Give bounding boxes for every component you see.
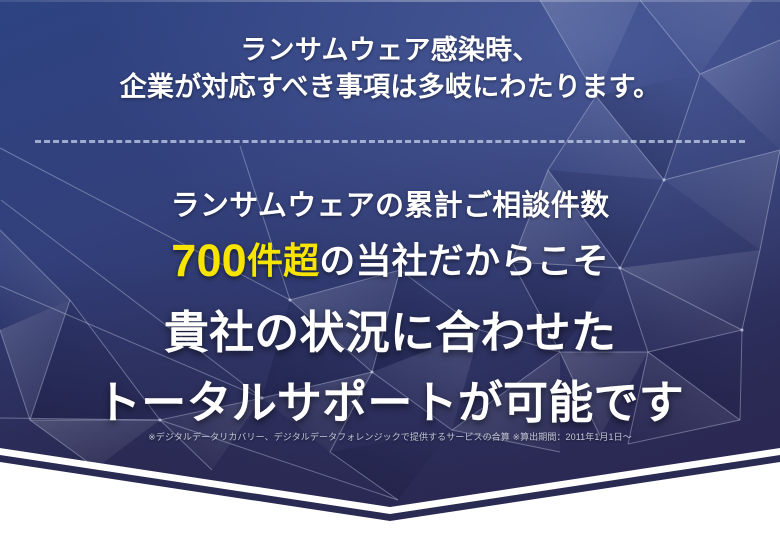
stat-tail-text: の当社だからこそ <box>319 240 608 281</box>
headline-line-1: ランサムウェア感染時、 <box>0 33 780 67</box>
footnote-text: ※デジタルデータリカバリー、デジタルデータフォレンジックで提供するサービスの合算… <box>0 430 780 443</box>
stat-lead-text: ランサムウェアの累計ご相談件数 <box>0 182 780 224</box>
stat-unit: 件超 <box>247 240 319 281</box>
stat-number: 700 <box>171 235 247 286</box>
stat-line: 700件超の当社だからこそ <box>0 232 780 287</box>
promise-line-2: トータルサポートが可能です <box>0 366 780 431</box>
headline-line-2: 企業が対応すべき事項は多岐にわたります。 <box>0 70 780 104</box>
banner-content: ランサムウェア感染時、 企業が対応すべき事項は多岐にわたります。 ランサムウェア… <box>0 0 780 542</box>
promise-line-1: 貴社の状況に合わせた <box>0 296 780 361</box>
dashed-divider <box>35 140 745 143</box>
promo-banner-screenshot: ランサムウェア感染時、 企業が対応すべき事項は多岐にわたります。 ランサムウェア… <box>0 0 780 542</box>
